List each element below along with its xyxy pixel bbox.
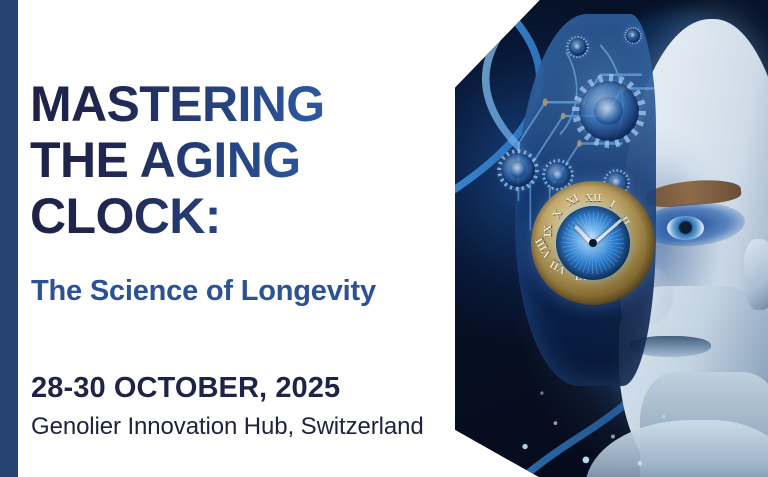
clock-numeral: XI bbox=[565, 192, 582, 209]
headline-line-2: THE AGING bbox=[30, 132, 325, 188]
gear-small-1 bbox=[545, 162, 571, 188]
eye bbox=[667, 216, 704, 241]
event-dates: 28-30 OCTOBER, 2025 bbox=[31, 371, 340, 405]
event-banner: XIIIIIIIIIVVVIVIIVIIIIXXXI MASTERING THE… bbox=[0, 0, 768, 477]
page-title: MASTERING THE AGING CLOCK: bbox=[30, 76, 325, 244]
gear-tiny-2 bbox=[626, 29, 640, 43]
text-panel: MASTERING THE AGING CLOCK: The Science o… bbox=[30, 0, 500, 477]
clock-numeral: X bbox=[550, 208, 564, 221]
gear-tiny-1 bbox=[569, 38, 587, 56]
headline-line-3: CLOCK: bbox=[30, 188, 325, 244]
headline-line-1: MASTERING bbox=[30, 76, 325, 132]
clock-numeral: VIII bbox=[534, 236, 555, 260]
clock-numeral: IX bbox=[542, 225, 554, 237]
gear-large bbox=[579, 81, 639, 141]
event-venue: Genolier Innovation Hub, Switzerland bbox=[31, 412, 424, 441]
gear-medium bbox=[501, 153, 535, 187]
aging-clock-icon: XIIIIIIIIIVVVIVIIVIIIIXXXI bbox=[531, 181, 655, 305]
clock-numeral: XII bbox=[585, 192, 602, 204]
left-accent-bar bbox=[0, 0, 18, 477]
ear bbox=[744, 239, 768, 311]
subtitle: The Science of Longevity bbox=[31, 274, 376, 308]
sparkles bbox=[498, 343, 701, 477]
